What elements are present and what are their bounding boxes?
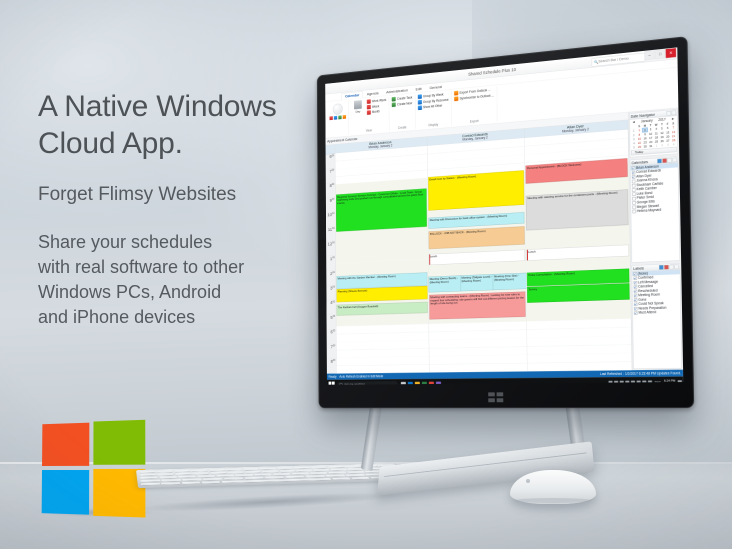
time-ruler-hour: 600 xyxy=(326,154,335,169)
calendar-area: Appointment Calendar 6007008009001000110… xyxy=(326,112,633,373)
ribbon-button-label: Create New xyxy=(397,101,412,106)
checkbox[interactable] xyxy=(634,311,637,314)
label-list-item[interactable]: Must Attend xyxy=(633,309,681,315)
time-ruler-hour: 300 xyxy=(326,285,335,300)
ribbon-small-buttons: Group By WeekGroup By ResourceShow All O… xyxy=(418,92,449,110)
keyboard-key[interactable] xyxy=(161,482,180,485)
labels-title: Labels xyxy=(633,266,644,270)
ribbon-group-items: Create TaskCreate New xyxy=(392,95,413,126)
calendar-appointment[interactable]: Survey xyxy=(527,283,629,303)
monitor-logo xyxy=(488,392,503,402)
keyboard-key[interactable] xyxy=(201,481,220,484)
pin-icon[interactable] xyxy=(667,111,671,116)
checkbox[interactable] xyxy=(632,205,635,209)
calendar-column[interactable]: Allan DyerMonday, January 2Personal Appo… xyxy=(525,120,633,372)
time-ruler-hour: 100 xyxy=(326,256,335,271)
week-view-icon xyxy=(367,105,371,110)
body-line-3: Windows PCs, Android xyxy=(38,282,221,302)
app-menu-icon[interactable] xyxy=(333,103,343,115)
ribbon-small-buttons: Create TaskCreate New xyxy=(392,95,412,107)
ribbon-button-label: Work Week xyxy=(372,98,387,103)
add-label-icon[interactable] xyxy=(659,265,663,270)
time-ruler-hour: 700 xyxy=(327,344,336,359)
close-panel-icon[interactable] xyxy=(674,264,678,269)
scheduler-application: Shared Schedule Plus 10 🔍 Search Bar / D… xyxy=(325,47,683,384)
ribbon-button-label: Month xyxy=(372,110,380,114)
ribbon-button-label: Show All Other xyxy=(423,104,442,109)
start-button-icon[interactable] xyxy=(328,381,335,385)
calendar-appointment[interactable]: Meeting (Demo Booth) - (Meeting Room) xyxy=(428,275,462,292)
status-mode: Auto Refresh Enabled in Edit Mode xyxy=(339,374,383,378)
close-button[interactable]: ✕ xyxy=(666,48,676,58)
time-ruler-hour: 900 xyxy=(326,197,335,212)
side-panel: Date Navigator ◄ January 20 xyxy=(628,108,683,370)
calendar-slot[interactable] xyxy=(337,364,429,373)
calendar-slots[interactable]: Email Cost by Station - (Meeting Room)Me… xyxy=(427,138,527,373)
calendar-slots[interactable]: Personal Appointment - (BLOCK Welcome)Me… xyxy=(525,129,632,371)
checkbox[interactable] xyxy=(632,188,635,192)
close-panel-icon[interactable] xyxy=(672,110,676,115)
checkbox[interactable] xyxy=(632,197,635,201)
ribbon-group-items: Export From Outlook ...Synchronise to Ou… xyxy=(454,87,494,120)
checkbox[interactable] xyxy=(634,276,637,279)
create-task-icon xyxy=(392,97,396,102)
body-line-1: Share your schedules xyxy=(38,232,212,252)
pin-icon[interactable] xyxy=(667,158,671,163)
calendar-appointment[interactable]: Meeting (Tailgate Level) - (Meeting Room… xyxy=(460,274,494,291)
close-panel-icon[interactable] xyxy=(672,158,676,163)
calendar-column[interactable]: Brian AndersonMonday, January 2Regional … xyxy=(335,137,429,374)
time-ruler-hour: 800 xyxy=(327,359,336,374)
panel-buttons xyxy=(667,110,677,115)
month-view-icon xyxy=(367,110,371,115)
scene: A Native Windows Cloud App. Forget Flims… xyxy=(0,0,732,549)
windows-logo-tile-top-left xyxy=(42,423,89,466)
ribbon-group-items: Group By WeekGroup By ResourceShow All O… xyxy=(418,92,449,124)
checkbox[interactable] xyxy=(632,192,635,196)
ribbon-button-create-new[interactable]: Create New xyxy=(392,101,412,107)
time-ruler-hour: 600 xyxy=(327,329,336,344)
label-list-item-label: Must Attend xyxy=(638,311,656,315)
work-week-icon xyxy=(367,99,371,104)
ribbon-small-buttons: Work WeekWeekMonth xyxy=(367,98,387,115)
checkbox[interactable] xyxy=(634,303,637,306)
labels-panel-buttons xyxy=(659,264,679,269)
body-line-4: and iPhone devices xyxy=(38,307,195,327)
ribbon-group-export: Export From Outlook ...Synchronise to Ou… xyxy=(452,86,498,125)
keyboard-key[interactable] xyxy=(141,483,160,486)
export-outlook-icon xyxy=(454,91,458,96)
calendar-appointment[interactable]: Meeting with contracting teams - (Meetin… xyxy=(429,292,526,320)
ribbon-button-month[interactable]: Month xyxy=(367,109,387,115)
keyboard-key[interactable] xyxy=(181,482,200,485)
time-ruler-hour: 1200 xyxy=(326,241,335,256)
time-ruler-hour: 500 xyxy=(327,315,336,330)
calendar-slot[interactable] xyxy=(429,363,527,373)
ribbon-group-view: DayWork WeekWeekMonthView xyxy=(349,97,390,135)
group-resource-icon xyxy=(418,100,422,105)
calendars-panel: Calendars Brian AndersonConrad EdwardsAl… xyxy=(630,157,680,263)
surface-studio-monitor: Shared Schedule Plus 10 🔍 Search Bar / D… xyxy=(317,36,694,408)
mini-calendar-grid[interactable]: SMTWTFS112345672891011121314315161718192… xyxy=(631,121,677,149)
checkbox[interactable] xyxy=(632,166,635,170)
labels-list[interactable]: (None)ConfirmedLeft MessageCancelledResc… xyxy=(632,270,681,369)
status-ready: Ready xyxy=(329,375,337,378)
marketing-body: Share your schedules with real software … xyxy=(38,230,338,330)
calendar-columns: Brian AndersonMonday, January 2Regional … xyxy=(335,120,632,374)
ribbon-button-label: Week xyxy=(372,104,379,108)
date-navigator-panel: Date Navigator ◄ January 20 xyxy=(629,109,678,157)
work-area: Appointment Calendar 6007008009001000110… xyxy=(326,108,683,374)
body-line-2: with real software to other xyxy=(38,257,244,277)
checkbox[interactable] xyxy=(634,294,637,297)
keyboard-key[interactable] xyxy=(331,477,351,480)
ribbon-button-label: Day xyxy=(356,110,361,114)
checkbox[interactable] xyxy=(632,184,635,188)
checkbox[interactable] xyxy=(632,171,635,175)
cortana-search-box[interactable]: Ask me anything xyxy=(337,381,398,385)
ribbon-button-day[interactable]: Day xyxy=(351,100,364,114)
calendar-slot[interactable] xyxy=(528,362,632,372)
date-navigator-body[interactable]: ◄ January 2017 ► SMTWTFS1123456728910111… xyxy=(630,116,678,157)
label-list-item-label: Meeting Room xyxy=(638,293,660,297)
time-ruler-hour: 200 xyxy=(326,271,335,286)
labels-panel: Labels (None)ConfirmedLeft MessageCancel… xyxy=(632,263,682,368)
cortana-icon xyxy=(339,383,343,385)
status-left: Ready Auto Refresh Enabled in Edit Mode xyxy=(329,374,384,378)
checkbox[interactable] xyxy=(634,289,637,292)
calendar-appointment[interactable]: Regional Synergy Service Contract - Cust… xyxy=(336,189,427,232)
day-view-icon xyxy=(354,100,362,109)
keyboard-key[interactable] xyxy=(351,477,371,480)
marketing-copy: A Native Windows Cloud App. Forget Flims… xyxy=(38,88,338,330)
ribbon-small-buttons: Export From Outlook ...Synchronise to Ou… xyxy=(454,87,494,101)
label-list-item-label: Gone xyxy=(638,298,646,302)
checkbox[interactable] xyxy=(632,175,635,179)
quick-access-icon[interactable] xyxy=(343,115,346,119)
time-ruler-hour: 800 xyxy=(326,183,335,198)
ribbon-group-create: Create TaskCreate NewCreate xyxy=(389,94,415,131)
calendar-appointment[interactable]: Email Cost by Station - (Meeting Room) xyxy=(428,170,524,210)
checkbox[interactable] xyxy=(632,210,635,214)
page-title: A Native Windows Cloud App. xyxy=(38,88,338,162)
ribbon-group-label: Create xyxy=(392,124,412,130)
mini-cal-day[interactable]: 4 xyxy=(671,142,677,146)
calendar-grid[interactable]: 6007008009001000110012001002003004005006… xyxy=(326,120,633,374)
create-new-icon xyxy=(392,102,396,107)
add-calendar-icon[interactable] xyxy=(657,159,661,164)
time-ruler-hour: 400 xyxy=(326,300,335,315)
window-controls: – □ ✕ xyxy=(644,48,676,60)
minimize-button[interactable]: – xyxy=(644,50,654,60)
quick-access-icon[interactable] xyxy=(334,116,337,120)
checkbox[interactable] xyxy=(634,281,637,284)
windows-logo-tile-top-right xyxy=(93,420,145,465)
time-ruler-hour: 1000 xyxy=(326,212,335,227)
headline-line-2: Cloud App. xyxy=(38,127,183,160)
subheadline: Forget Flimsy Websites xyxy=(38,183,338,207)
time-ruler-hour: 700 xyxy=(326,168,335,183)
ribbon-button-label: Create Task xyxy=(397,96,412,101)
show-all-icon xyxy=(418,105,422,110)
headline-line-1: A Native Windows xyxy=(38,90,277,123)
quick-access-icon[interactable] xyxy=(330,116,333,120)
maximize-button[interactable]: □ xyxy=(655,49,665,59)
ribbon-group-items: DayWork WeekWeekMonth xyxy=(351,98,386,130)
monitor-screen: Shared Schedule Plus 10 🔍 Search Bar / D… xyxy=(325,47,683,384)
delete-label-icon[interactable] xyxy=(664,265,668,270)
windows-logo-tile-bottom-left xyxy=(42,470,90,515)
calendar-appointment[interactable]: Meeting (One Site) - (Meeting Room) xyxy=(493,273,528,290)
calendar-appointment[interactable]: Meeting with catering service for the co… xyxy=(526,189,628,230)
time-ruler-hour: 1100 xyxy=(326,227,335,242)
pin-icon[interactable] xyxy=(669,265,673,270)
checkbox[interactable] xyxy=(632,201,635,205)
checkbox[interactable] xyxy=(634,298,637,301)
ribbon-group-display: Group By WeekGroup By ResourceShow All O… xyxy=(415,91,452,129)
status-refresh: Last Refreshed : 1/2/2017 6:23:48 PM Upd… xyxy=(600,371,681,376)
taskbar-search-placeholder: Ask me anything xyxy=(344,383,365,385)
checkbox[interactable] xyxy=(634,307,637,310)
calendars-list[interactable]: Brian AndersonConrad EdwardsAllan DyerJo… xyxy=(630,163,679,262)
delete-calendar-icon[interactable] xyxy=(662,158,666,163)
group-week-icon xyxy=(418,94,422,99)
calendar-slots[interactable]: Regional Synergy Service Contract - Cust… xyxy=(335,146,429,374)
calendar-column[interactable]: Conrad EdwardsMonday, January 2Email Cos… xyxy=(427,129,528,373)
search-placeholder: Search Bar / Demo xyxy=(598,57,628,64)
checkbox[interactable] xyxy=(634,285,637,288)
checkbox[interactable] xyxy=(634,272,637,275)
quick-access-icon[interactable] xyxy=(338,115,341,119)
calendar-list-item-label: Helena Maynard xyxy=(637,208,662,213)
sync-outlook-icon xyxy=(454,96,458,101)
checkbox[interactable] xyxy=(632,179,635,183)
